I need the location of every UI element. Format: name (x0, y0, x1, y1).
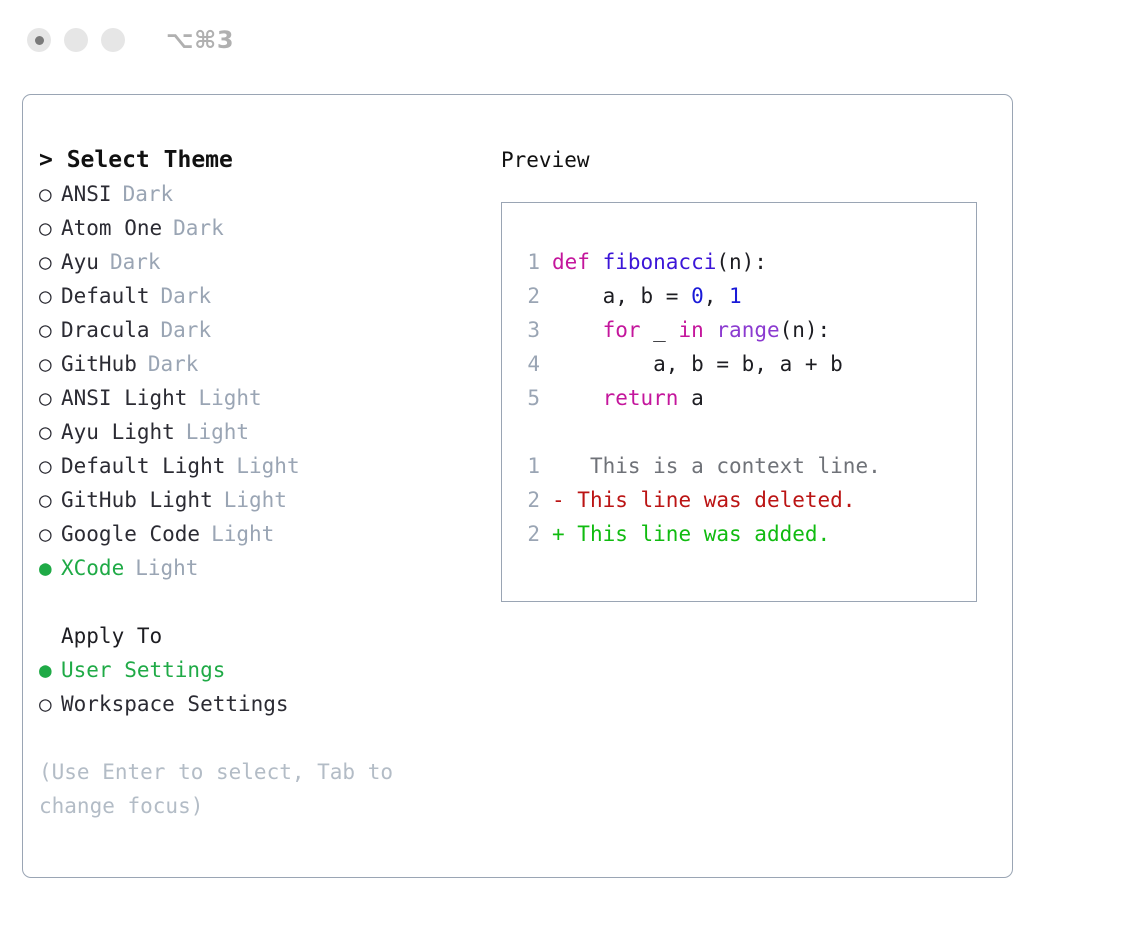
theme-list-item[interactable]: ○Google CodeLight (39, 517, 499, 551)
theme-name: Ayu Light (61, 415, 175, 449)
line-number: 2 (516, 483, 540, 517)
radio-empty-icon: ○ (39, 313, 61, 347)
radio-empty-icon: ○ (39, 483, 61, 517)
theme-kind-label: Light (236, 449, 299, 483)
theme-name: Atom One (61, 211, 162, 245)
theme-list-item[interactable]: ○AyuDark (39, 245, 499, 279)
theme-name: Default Light (61, 449, 225, 483)
radio-empty-icon: ○ (39, 415, 61, 449)
radio-empty-icon: ○ (39, 517, 61, 551)
apply-to-heading: Apply To (39, 619, 499, 653)
recording-dot-icon[interactable] (27, 28, 51, 52)
code-line: 2 a, b = 0, 1 (516, 279, 972, 313)
line-number: 1 (516, 245, 540, 279)
window-dot-2-icon[interactable] (64, 28, 88, 52)
code-token: 0 (691, 284, 704, 308)
code-token: fibonacci (603, 250, 717, 274)
line-number: 2 (516, 517, 540, 551)
theme-kind-label: Light (224, 483, 287, 517)
theme-list: ○ANSIDark○Atom OneDark○AyuDark○DefaultDa… (39, 177, 499, 585)
theme-name: XCode (61, 551, 124, 585)
radio-empty-icon: ○ (39, 347, 61, 381)
line-number: 2 (516, 279, 540, 313)
theme-name: Default (61, 279, 150, 313)
apply-to-list: ●User Settings○Workspace Settings (39, 653, 499, 721)
radio-selected-icon: ● (39, 653, 61, 687)
theme-name: Dracula (61, 313, 150, 347)
diff-marker: + (552, 522, 565, 546)
theme-kind-label: Dark (173, 211, 224, 245)
diff-text: - This line was deleted. (552, 483, 855, 517)
keyboard-hint-text: (Use Enter to select, Tab to change focu… (39, 755, 449, 823)
apply-to-label: Workspace Settings (61, 687, 289, 721)
diff-marker (552, 454, 565, 478)
line-number: 4 (516, 347, 540, 381)
code-token: (n): (780, 318, 831, 342)
preview-box: 1def fibonacci(n):2 a, b = 0, 13 for _ i… (501, 202, 977, 602)
line-number: 1 (516, 449, 540, 483)
diff-content: This line was deleted. (565, 488, 856, 512)
diff-content: This is a context line. (565, 454, 881, 478)
theme-kind-label: Dark (161, 279, 212, 313)
code-text: a, b = b, a + b (552, 347, 843, 381)
code-token: range (716, 318, 779, 342)
code-line: 4 a, b = b, a + b (516, 347, 972, 381)
code-token: _ (641, 318, 679, 342)
theme-name: GitHub (61, 347, 137, 381)
radio-empty-icon: ○ (39, 245, 61, 279)
apply-to-label: User Settings (61, 653, 225, 687)
theme-list-item[interactable]: ○DefaultDark (39, 279, 499, 313)
diff-line: 2+ This line was added. (516, 517, 972, 551)
code-token (704, 318, 717, 342)
theme-list-item[interactable]: ○Atom OneDark (39, 211, 499, 245)
theme-list-item[interactable]: ○Default LightLight (39, 449, 499, 483)
theme-list-item[interactable]: ○Ayu LightLight (39, 415, 499, 449)
code-token: a, b = b, a + b (552, 352, 843, 376)
line-number: 3 (516, 313, 540, 347)
theme-selector-panel: > Select Theme ○ANSIDark○Atom OneDark○Ay… (22, 94, 1013, 878)
diff-line: 1 This is a context line. (516, 449, 972, 483)
line-number: 5 (516, 381, 540, 415)
diff-text: + This line was added. (552, 517, 830, 551)
radio-empty-icon: ○ (39, 177, 61, 211)
theme-name: ANSI (61, 177, 112, 211)
diff-marker: - (552, 488, 565, 512)
radio-empty-icon: ○ (39, 211, 61, 245)
theme-list-item[interactable]: ○GitHubDark (39, 347, 499, 381)
diff-sample: 1 This is a context line.2- This line wa… (516, 449, 972, 551)
code-preview-area: 1def fibonacci(n):2 a, b = 0, 13 for _ i… (516, 245, 972, 551)
diff-line: 2- This line was deleted. (516, 483, 972, 517)
radio-empty-icon: ○ (39, 687, 61, 721)
radio-empty-icon: ○ (39, 449, 61, 483)
diff-text: This is a context line. (552, 449, 881, 483)
code-token: , (704, 284, 729, 308)
code-text: a, b = 0, 1 (552, 279, 742, 313)
code-line: 1def fibonacci(n): (516, 245, 972, 279)
theme-list-item[interactable]: ○DraculaDark (39, 313, 499, 347)
theme-kind-label: Light (186, 415, 249, 449)
theme-list-item[interactable]: ○GitHub LightLight (39, 483, 499, 517)
code-token: a (678, 386, 703, 410)
preview-heading: Preview (501, 143, 1001, 177)
code-token (552, 386, 603, 410)
preview-column: Preview 1def fibonacci(n):2 a, b = 0, 13… (501, 143, 1001, 602)
window-dot-3-icon[interactable] (101, 28, 125, 52)
theme-kind-label: Light (211, 517, 274, 551)
code-token: return (603, 386, 679, 410)
theme-list-item[interactable]: ○ANSIDark (39, 177, 499, 211)
code-line: 3 for _ in range(n): (516, 313, 972, 347)
code-token: for (603, 318, 641, 342)
radio-empty-icon: ○ (39, 381, 61, 415)
select-theme-heading: > Select Theme (39, 143, 499, 177)
code-line: 5 return a (516, 381, 972, 415)
radio-selected-icon: ● (39, 551, 61, 585)
code-token: in (678, 318, 703, 342)
diff-content: This line was added. (565, 522, 831, 546)
theme-list-item[interactable]: ○ANSI LightLight (39, 381, 499, 415)
theme-kind-label: Dark (110, 245, 161, 279)
radio-empty-icon: ○ (39, 279, 61, 313)
theme-name: Ayu (61, 245, 99, 279)
keyboard-shortcut-label: ⌥⌘3 (166, 26, 234, 54)
code-token: (n): (716, 250, 767, 274)
code-token (552, 318, 603, 342)
code-text: return a (552, 381, 704, 415)
theme-kind-label: Dark (123, 177, 174, 211)
theme-kind-label: Dark (161, 313, 212, 347)
code-sample: 1def fibonacci(n):2 a, b = 0, 13 for _ i… (516, 245, 972, 415)
apply-to-item[interactable]: ●User Settings (39, 653, 499, 687)
code-token: 1 (729, 284, 742, 308)
window-titlebar: ⌥⌘3 (0, 0, 1140, 80)
theme-kind-label: Light (198, 381, 261, 415)
code-text: def fibonacci(n): (552, 245, 767, 279)
code-token: a, b = (552, 284, 691, 308)
preview-spacer (516, 415, 972, 449)
theme-selection-column: > Select Theme ○ANSIDark○Atom OneDark○Ay… (39, 143, 499, 823)
theme-kind-label: Dark (148, 347, 199, 381)
code-token: def (552, 250, 603, 274)
theme-kind-label: Light (135, 551, 198, 585)
theme-name: Google Code (61, 517, 200, 551)
theme-list-item[interactable]: ●XCodeLight (39, 551, 499, 585)
apply-to-item[interactable]: ○Workspace Settings (39, 687, 499, 721)
theme-name: GitHub Light (61, 483, 213, 517)
code-text: for _ in range(n): (552, 313, 830, 347)
window-controls (27, 28, 125, 52)
theme-name: ANSI Light (61, 381, 187, 415)
